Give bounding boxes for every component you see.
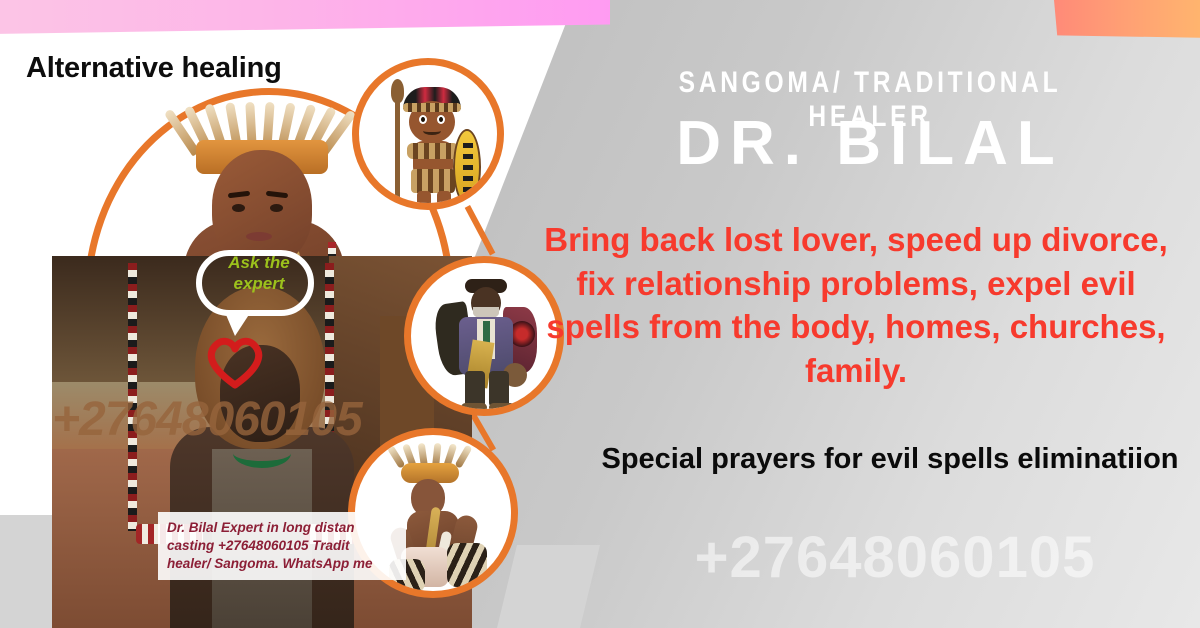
caption-line-3: healer/ Sangoma. WhatsApp me [167,555,397,573]
healer-shoe-right [489,403,515,412]
warrior-fur-chest [407,143,459,159]
warrior-skirt [411,169,455,193]
photo-caption: Dr. Bilal Expert in long distan casting … [158,512,406,580]
warrior-smile [423,127,441,135]
photo-phone-watermark: +27648060105 [52,392,472,447]
warrior-headband [403,103,461,112]
spear-icon [395,87,400,205]
face [212,150,312,266]
warrior-leg-left [417,191,431,207]
prayers-text: Special prayers for evil spells eliminat… [600,440,1180,478]
top-orange-banner [1054,0,1200,38]
warrior-eye-left [419,115,427,124]
mouth [246,232,272,241]
healer-trouser-right [489,371,509,407]
warrior-eye-right [437,115,445,124]
eye-left [232,204,245,212]
poster-canvas: Alternative healing [0,0,1200,628]
warrior-leg-right [437,191,451,207]
phone-watermark: +27648060105 [600,524,1190,591]
zulu-warrior-illustration [352,58,504,210]
brand-name: DR. BILAL [560,108,1180,179]
spear-tip-icon [391,79,404,103]
shield-icon [453,129,481,205]
speech-bubble-label: Ask the expert [204,252,314,295]
eye-right [270,204,283,212]
caption-line-2: casting +27648060105 Tradit [167,537,397,555]
services-text: Bring back lost lover, speed up divorce,… [536,218,1176,392]
page-title: Alternative healing [26,52,282,85]
kneeling-fur-right [447,543,487,587]
caption-line-1: Dr. Bilal Expert in long distan [167,519,397,537]
heart-icon [205,335,265,389]
